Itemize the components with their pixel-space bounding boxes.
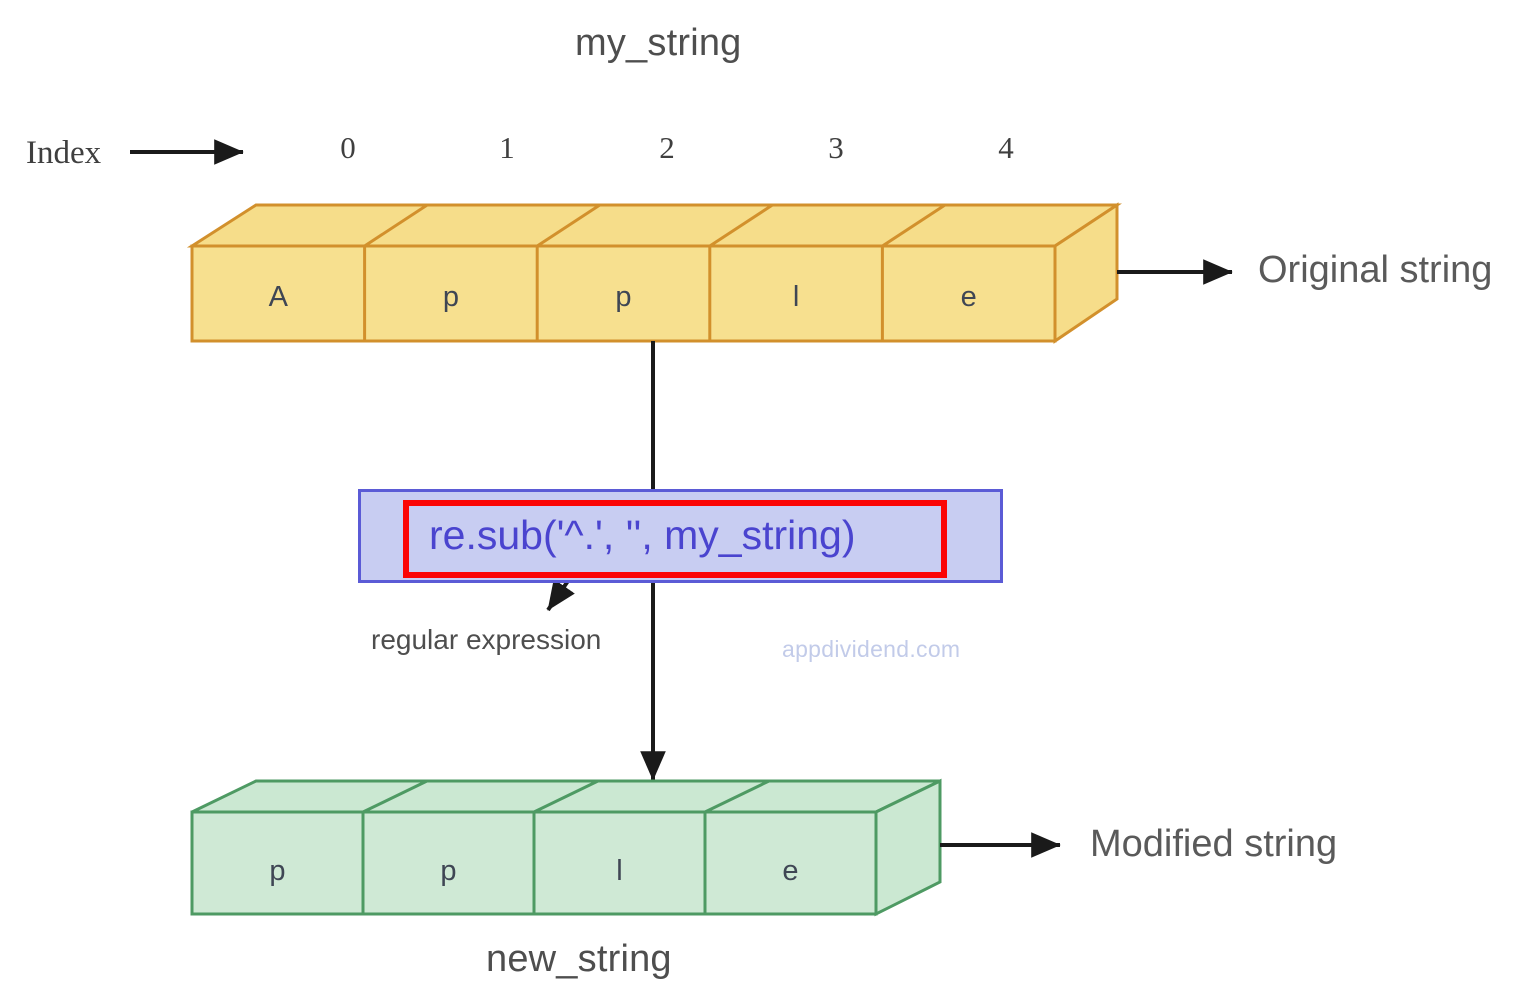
index-label: Index — [26, 135, 101, 172]
code-callout-box: re.sub('^.', '', my_string) — [358, 489, 1003, 583]
index-tick-4: 4 — [976, 130, 1036, 166]
original-string-box — [192, 205, 1117, 341]
page-title-new-string: new_string — [486, 938, 672, 981]
index-tick-2: 2 — [637, 130, 697, 166]
modified-string-box — [192, 781, 940, 914]
index-tick-3: 3 — [806, 130, 866, 166]
original-string-label: Original string — [1258, 249, 1492, 292]
index-tick-1: 1 — [477, 130, 537, 166]
watermark-text: appdividend.com — [782, 636, 960, 663]
regex-annotation-label: regular expression — [371, 624, 601, 656]
original-cell-4: e — [882, 281, 1055, 314]
modified-cell-1: p — [363, 855, 534, 888]
modified-string-label: Modified string — [1090, 823, 1337, 866]
modified-cell-3: e — [705, 855, 876, 888]
diagram-canvas: my_string Index 0 1 2 3 4 A p p l e Orig… — [0, 0, 1536, 990]
index-tick-0: 0 — [318, 130, 378, 166]
modified-cell-0: p — [192, 855, 363, 888]
original-cell-0: A — [192, 281, 365, 314]
original-cell-2: p — [537, 281, 710, 314]
original-cell-3: l — [710, 281, 883, 314]
code-expression: re.sub('^.', '', my_string) — [429, 512, 855, 559]
original-cell-1: p — [365, 281, 538, 314]
page-title-my-string: my_string — [575, 22, 742, 65]
modified-cell-2: l — [534, 855, 705, 888]
